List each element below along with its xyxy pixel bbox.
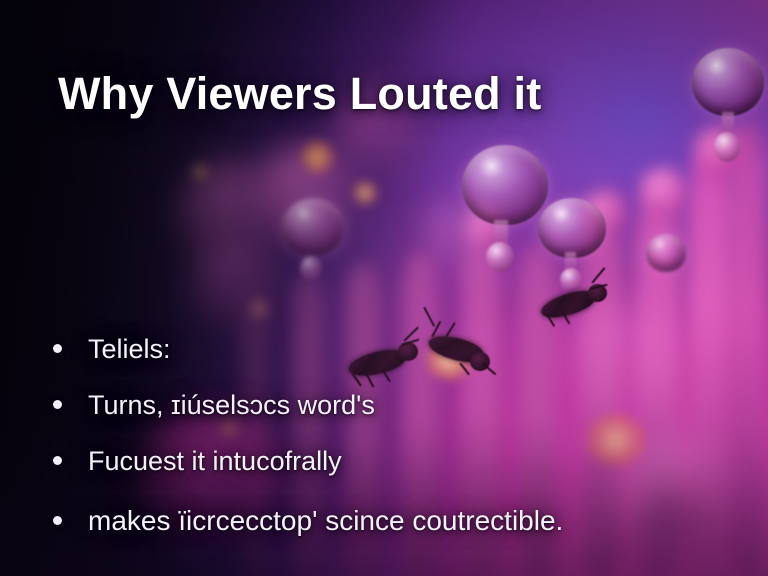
- slide-title: Why Viewers Louted it: [58, 68, 541, 120]
- bullet-text: Fucuest it intucofrally: [50, 445, 342, 477]
- bullet-item: Turns, ɪiúselsɔcs word's: [50, 389, 750, 421]
- presentation-slide: Why Viewers Louted it Teliels: Turns, ɪi…: [0, 0, 768, 576]
- bullet-item: Teliels:: [50, 333, 750, 365]
- bullet-dot-icon: [53, 400, 62, 409]
- bullet-text: makes ïicrcecctop' scince coutrectible.: [50, 504, 563, 538]
- bullet-item: makes ïicrcecctop' scince coutrectible.: [50, 504, 750, 538]
- bullet-list: Teliels: Turns, ɪiúselsɔcs word's Fucues…: [50, 333, 750, 538]
- bullet-text: Teliels:: [50, 333, 171, 365]
- bullet-item: Fucuest it intucofrally: [50, 445, 750, 477]
- slide-content: Why Viewers Louted it Teliels: Turns, ɪi…: [0, 0, 768, 576]
- bullet-text: Turns, ɪiúselsɔcs word's: [50, 389, 375, 421]
- bullet-dot-icon: [53, 344, 62, 353]
- bullet-dot-icon: [53, 456, 62, 465]
- bullet-dot-icon: [53, 516, 62, 525]
